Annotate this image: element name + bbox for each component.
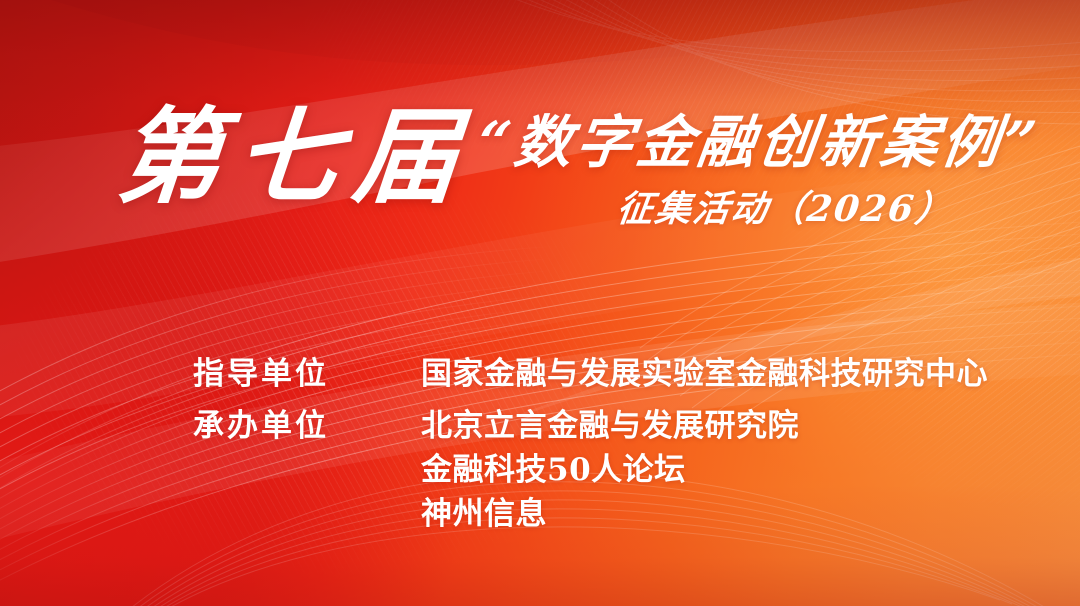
organizer-values-host: 北京立言金融与发展研究院 金融科技50人论坛 神州信息 xyxy=(225,404,799,536)
organizer-row-guidance: 指导单位 国家金融与发展实验室金融科技研究中心 xyxy=(0,352,1080,396)
organizer-list: 指导单位 国家金融与发展实验室金融科技研究中心 承办单位 北京立言金融与发展研究… xyxy=(0,352,1080,536)
organizer-value: 神州信息 xyxy=(421,492,799,536)
organizer-value: 国家金融与发展实验室金融科技研究中心 xyxy=(421,352,988,396)
organizer-label-guidance: 指导单位 xyxy=(0,352,225,396)
poster-title-edition: 第七届 xyxy=(113,96,478,219)
organizer-value: 北京立言金融与发展研究院 xyxy=(421,404,799,448)
poster-title-theme: “数字金融创新案例” xyxy=(474,109,1044,177)
poster-content: 第七届 “数字金融创新案例” 征集活动（2026） 指导单位 国家金融与发展实验… xyxy=(0,0,1080,606)
organizer-values-guidance: 国家金融与发展实验室金融科技研究中心 xyxy=(225,352,988,396)
title-block: 第七届 “数字金融创新案例” 征集活动（2026） xyxy=(0,96,1080,266)
organizer-value: 金融科技50人论坛 xyxy=(421,448,799,492)
poster-subtitle: 征集活动（2026） xyxy=(614,188,956,231)
organizer-label-host: 承办单位 xyxy=(0,404,225,448)
event-poster: 第七届 “数字金融创新案例” 征集活动（2026） 指导单位 国家金融与发展实验… xyxy=(0,0,1080,606)
organizer-row-host: 承办单位 北京立言金融与发展研究院 金融科技50人论坛 神州信息 xyxy=(0,404,1080,536)
